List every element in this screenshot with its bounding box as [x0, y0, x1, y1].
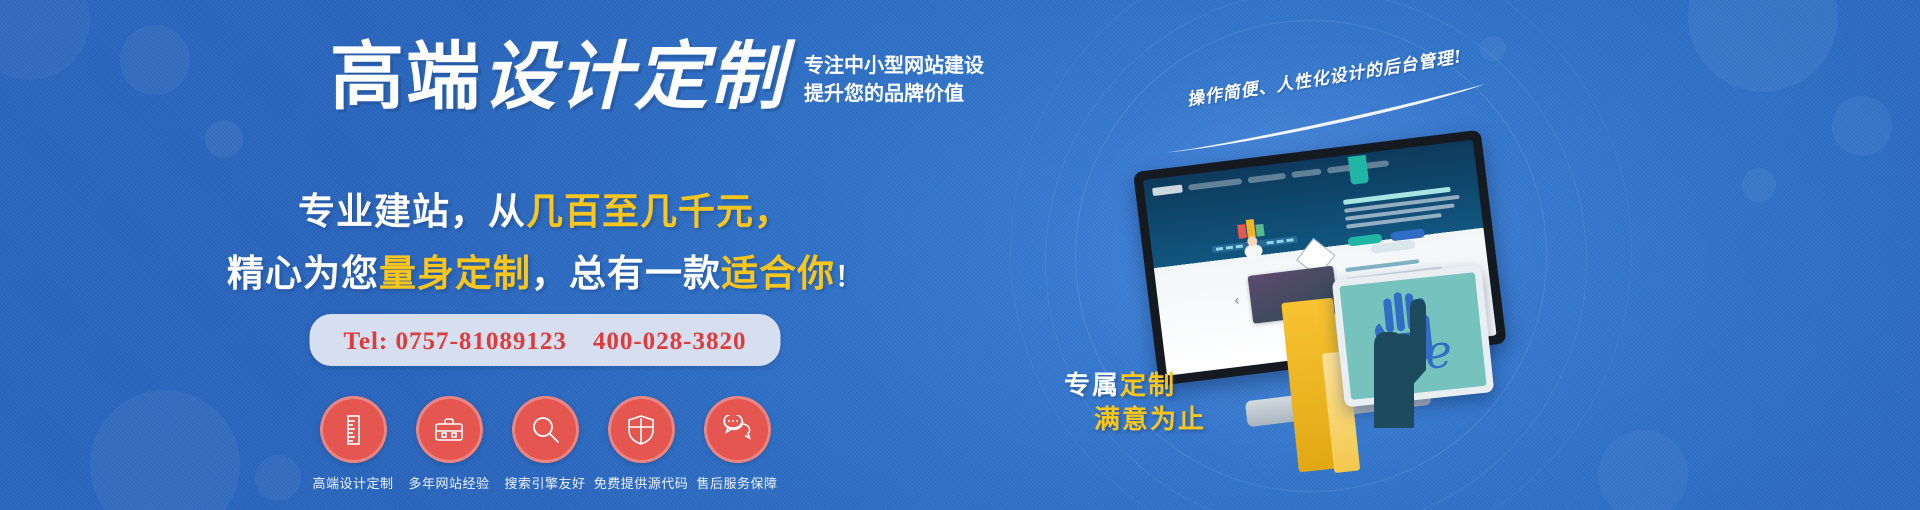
- page-title: 高端设计定制: [330, 40, 786, 114]
- telephone-text: Tel: 0757-81089123 400-028-3820: [344, 328, 747, 355]
- headline-part2: 设计定制: [482, 34, 786, 120]
- slogan-l1-highlight: 几百至几千元，: [526, 191, 792, 232]
- slogan-l2-white-a: 精心为您: [227, 253, 379, 294]
- briefcase-icon: [416, 396, 483, 463]
- feature-label: 搜索引擎友好: [505, 473, 586, 492]
- artwork-tagline-line1: 专属定制: [960, 368, 1280, 402]
- banner-right-artwork: 操作简便、人性化设计的后台管理!: [1090, 0, 1920, 510]
- headline-part1: 高端: [330, 34, 482, 120]
- slogan-line-1: 专业建站，从几百至几千元，: [0, 188, 1090, 235]
- slogan-line-2: 精心为您量身定制，总有一款适合你！: [0, 250, 1090, 301]
- feature-label: 免费提供源代码: [594, 473, 689, 492]
- mockup-accent-block: [1348, 155, 1369, 185]
- promo-banner: 高端设计定制 专注中小型网站建设 提升您的品牌价值 专业建站，从几百至几千元， …: [0, 0, 1920, 510]
- feature-item-seo[interactable]: 搜索引擎友好: [510, 396, 580, 492]
- ruler-icon: [320, 396, 387, 463]
- mockup-illustration: [1206, 210, 1301, 266]
- tagline-yellow: 定制: [1120, 370, 1176, 400]
- pointing-hand-icon: [1348, 250, 1468, 430]
- artwork-tagline: 专属定制 满意为止: [960, 368, 1280, 436]
- feature-list: 高端设计定制 多年网站经验: [318, 396, 772, 492]
- headline-subtitle-line1: 专注中小型网站建设: [804, 52, 984, 80]
- chat-icon: [704, 396, 771, 463]
- slogan-l1-white: 专业建站，从: [298, 191, 526, 232]
- feature-label: 多年网站经验: [409, 473, 490, 492]
- banner-left-content: 高端设计定制 专注中小型网站建设 提升您的品牌价值 专业建站，从几百至几千元， …: [0, 0, 1090, 510]
- feature-item-support[interactable]: 售后服务保障: [702, 396, 772, 492]
- feature-item-experience[interactable]: 多年网站经验: [414, 396, 484, 492]
- slogan-l2-highlight-a: 量身定制: [379, 253, 531, 294]
- shield-icon: [608, 396, 675, 463]
- mockup-logo: [1152, 184, 1183, 196]
- headline-row: 高端设计定制 专注中小型网站建设 提升您的品牌价值: [330, 40, 984, 114]
- mockup-nav-item: [1188, 178, 1242, 191]
- feature-label: 售后服务保障: [697, 473, 778, 492]
- feature-item-sourcecode[interactable]: 免费提供源代码: [606, 396, 676, 492]
- search-icon: [512, 396, 579, 463]
- slogan-l2-highlight-b: 适合你: [721, 253, 835, 294]
- tagline-white: 专属: [1064, 370, 1120, 400]
- artwork-tagline-line2: 满意为止: [960, 402, 1280, 436]
- feature-label: 高端设计定制: [313, 473, 394, 492]
- telephone-badge[interactable]: Tel: 0757-81089123 400-028-3820: [310, 314, 781, 366]
- headline-subtitle-line2: 提升您的品牌价值: [804, 80, 984, 108]
- slogan-l2-exclaim: ！: [835, 262, 863, 292]
- carousel-prev-icon: ‹: [1233, 291, 1240, 307]
- headline-subtitle: 专注中小型网站建设 提升您的品牌价值: [804, 52, 984, 108]
- feature-item-design[interactable]: 高端设计定制: [318, 396, 388, 492]
- slogan-l2-white-b: ，总有一款: [531, 253, 721, 294]
- mockup-nav-item: [1247, 172, 1285, 183]
- mockup-nav-item: [1291, 168, 1322, 178]
